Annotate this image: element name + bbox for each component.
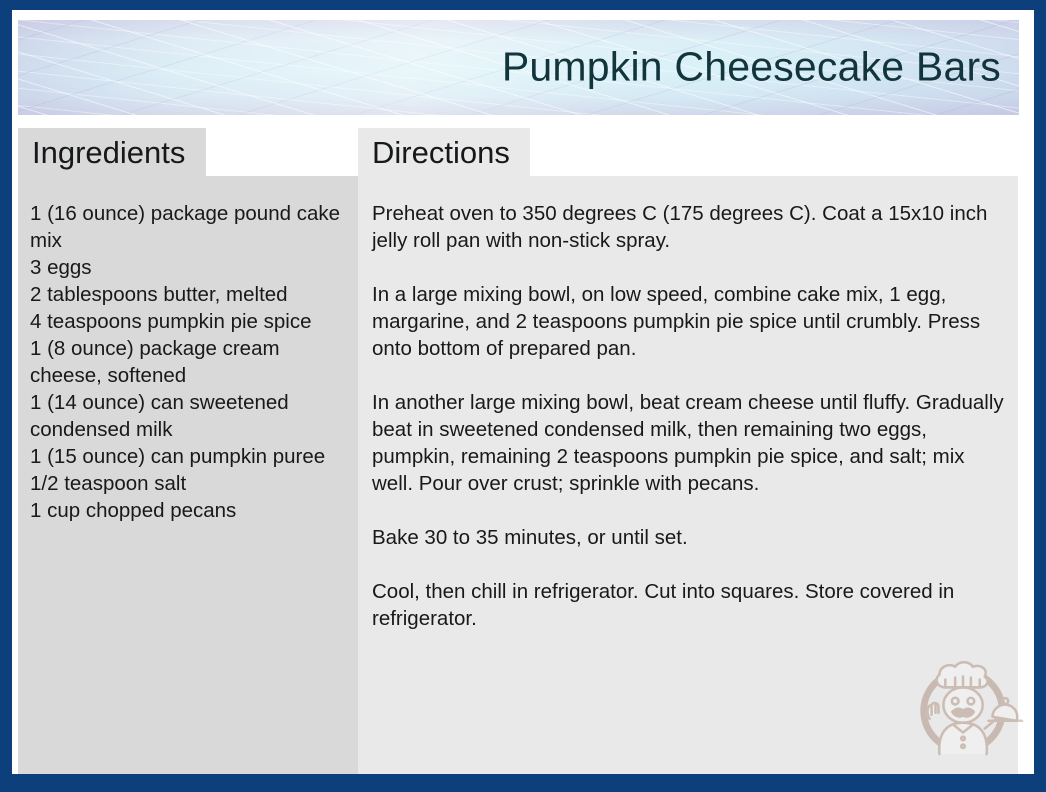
list-item: 1/2 teaspoon salt <box>30 470 348 497</box>
directions-steps: Preheat oven to 350 degrees C (175 degre… <box>372 200 1008 632</box>
list-item: 4 teaspoons pumpkin pie spice <box>30 308 348 335</box>
list-item: 1 (8 ounce) package cream cheese, soften… <box>30 335 348 389</box>
ingredients-list: 1 (16 ounce) package pound cake mix 3 eg… <box>30 200 348 524</box>
direction-step: Cool, then chill in refrigerator. Cut in… <box>372 578 1008 632</box>
direction-step: Bake 30 to 35 minutes, or until set. <box>372 524 1008 551</box>
slide-frame: Pumpkin Cheesecake Bars <box>0 0 1046 792</box>
list-item: 2 tablespoons butter, melted <box>30 281 348 308</box>
direction-step: In another large mixing bowl, beat cream… <box>372 389 1008 497</box>
slide-page: Pumpkin Cheesecake Bars <box>12 10 1034 774</box>
list-item: 1 (16 ounce) package pound cake mix <box>30 200 348 254</box>
list-item: 1 cup chopped pecans <box>30 497 348 524</box>
header-banner: Pumpkin Cheesecake Bars <box>18 20 1019 115</box>
directions-heading: Directions <box>372 137 510 168</box>
list-item: 1 (15 ounce) can pumpkin puree <box>30 443 348 470</box>
direction-step: Preheat oven to 350 degrees C (175 degre… <box>372 200 1008 254</box>
directions-tab: Directions <box>358 128 530 176</box>
ingredients-panel: 1 (16 ounce) package pound cake mix 3 eg… <box>18 176 358 774</box>
ingredients-tab: Ingredients <box>18 128 206 176</box>
page-title: Pumpkin Cheesecake Bars <box>502 43 1001 90</box>
ingredients-heading: Ingredients <box>32 137 185 168</box>
directions-panel: Preheat oven to 350 degrees C (175 degre… <box>358 176 1018 774</box>
list-item: 3 eggs <box>30 254 348 281</box>
direction-step: In a large mixing bowl, on low speed, co… <box>372 281 1008 362</box>
list-item: 1 (14 ounce) can sweetened condensed mil… <box>30 389 348 443</box>
